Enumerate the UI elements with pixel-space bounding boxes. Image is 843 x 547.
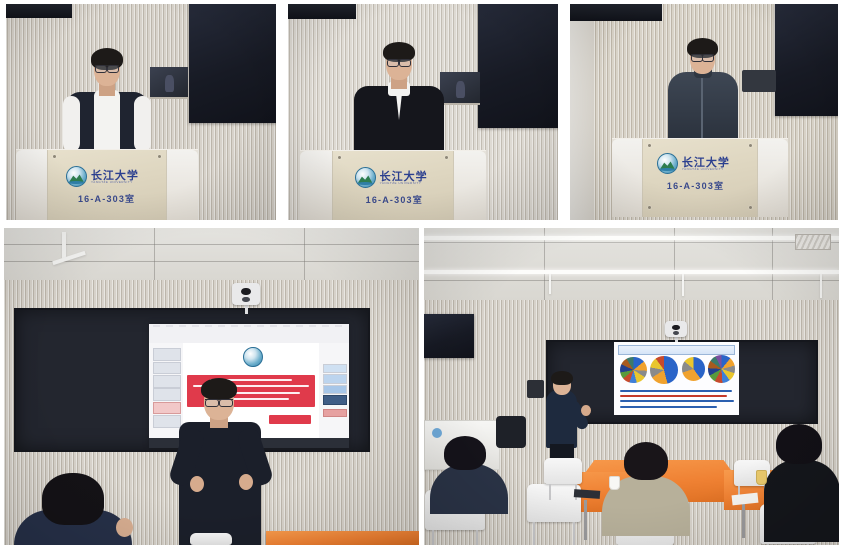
attendee-jacket <box>764 460 839 542</box>
ppt-format-swatch <box>323 374 347 384</box>
podium-screw <box>53 155 56 158</box>
speaker-arm-right <box>134 96 151 152</box>
chair-back <box>190 533 232 545</box>
attendee-hair <box>624 442 668 480</box>
banner-text-line <box>231 398 290 400</box>
crest-water <box>68 181 84 184</box>
monitor-reflection <box>456 81 465 98</box>
ceiling-hanger <box>820 274 822 298</box>
ppt-slide-thumbnail <box>153 415 181 428</box>
ppt-slide-thumbnail <box>153 402 181 415</box>
podium-screw <box>158 155 161 158</box>
ppt-format-swatch <box>323 409 347 417</box>
room-number-label: 16-A-303室 <box>78 192 135 205</box>
camera-lens-icon <box>672 325 679 330</box>
ceiling-grid-line <box>154 228 155 280</box>
projector-bracket <box>62 232 66 258</box>
camera-lens-icon <box>241 288 251 295</box>
university-name-en: YANGTZE UNIVERSITY <box>682 167 724 171</box>
ppt-format-swatch <box>323 364 347 374</box>
ceiling-light-strip <box>424 236 839 240</box>
pie-chart-4 <box>708 355 736 383</box>
camera-sensor-icon <box>242 297 250 303</box>
ceiling-grid-line <box>4 244 419 245</box>
attendee-jacket <box>430 464 508 514</box>
podium-wing-right <box>454 151 486 220</box>
ceiling-hanger <box>549 274 551 294</box>
slide-title-bar <box>618 345 736 355</box>
ppt-ribbon <box>149 324 349 344</box>
table-leg <box>584 500 587 540</box>
slide-footer-block <box>269 415 311 424</box>
monitor-top-left <box>288 4 356 19</box>
paper-cup <box>609 476 620 490</box>
monitor-top-left <box>570 4 662 21</box>
pie-chart-1 <box>620 357 646 383</box>
podium-wing-left <box>300 151 332 220</box>
podium-wing-left <box>16 150 47 220</box>
attendee-hand <box>116 518 133 537</box>
paper-cup <box>756 470 767 485</box>
glasses-icon <box>205 399 233 406</box>
lecture-podium: 长江大学 YANGTZE UNIVERSITY 16-A-303室 <box>300 150 486 220</box>
podium-wing-right <box>167 150 198 220</box>
attendee-hair <box>42 473 104 525</box>
lecture-podium: 长江大学 YANGTZE UNIVERSITY 16-A-303室 <box>16 149 198 220</box>
university-name-en: YANGTZE UNIVERSITY <box>91 180 133 184</box>
pie-chart-3 <box>682 357 706 381</box>
crest-water <box>659 168 675 171</box>
university-crest-icon <box>66 166 87 187</box>
university-name-en: YANGTZE UNIVERSITY <box>380 181 422 185</box>
monitor-reflection <box>165 75 173 92</box>
ppt-ribbon-tabs <box>153 325 345 327</box>
wall-column <box>570 4 594 220</box>
podium-wing-left <box>612 139 642 217</box>
ceiling-air-vent <box>795 234 831 250</box>
photo-bottom-right <box>424 228 839 545</box>
speaker-shirt <box>94 90 120 154</box>
ppt-format-swatch <box>323 395 347 405</box>
presenter-hand-left <box>190 476 204 492</box>
photo-top-left: 长江大学 YANGTZE UNIVERSITY 16-A-303室 <box>6 4 276 220</box>
podium-wing-right <box>758 139 788 217</box>
glasses-icon <box>387 59 411 66</box>
ppt-slide-thumbnail <box>153 362 181 375</box>
speaker-arm-left <box>63 96 80 152</box>
podium-screw <box>445 156 448 159</box>
slide-university-crest-icon <box>243 347 263 367</box>
office-chair-dark <box>496 416 526 448</box>
presenter-hair <box>201 378 237 400</box>
wall-display <box>775 4 838 116</box>
podium-screw <box>338 156 341 159</box>
presenter-hand-right <box>239 474 253 490</box>
podium-screw <box>749 206 752 209</box>
photo-top-right: 长江大学 YANGTZE UNIVERSITY 16-A-303室 <box>570 4 838 220</box>
ceiling-grid-line <box>304 228 305 280</box>
orange-table-edge <box>266 531 419 545</box>
lecture-podium: 长江大学 YANGTZE UNIVERSITY 16-A-303室 <box>612 138 788 217</box>
suspended-ceiling <box>4 228 419 280</box>
slide-body-line <box>620 395 726 397</box>
podium-front-panel: 长江大学 YANGTZE UNIVERSITY 16-A-303室 <box>332 151 455 220</box>
jacket-zip-line <box>701 76 703 142</box>
paper-sheet <box>574 489 600 499</box>
ceiling-light-strip <box>424 270 839 274</box>
wall-speaker-box <box>527 380 544 398</box>
ceiling-hanger <box>682 274 684 296</box>
wall-speaker-box <box>742 70 776 92</box>
podium-screw <box>749 144 752 147</box>
speaker-puffer-jacket <box>668 72 738 144</box>
attendee-hair <box>444 436 486 470</box>
university-crest-icon <box>657 153 678 174</box>
chair <box>544 458 582 484</box>
ceiling-grid-line <box>424 280 839 281</box>
wall-display <box>424 314 474 358</box>
presenter-hand <box>581 405 591 416</box>
crest-water <box>357 182 373 185</box>
photo-top-middle: 长江大学 YANGTZE UNIVERSITY 16-A-303室 <box>288 4 558 220</box>
podium-screw <box>648 144 651 147</box>
monitor-top-left <box>6 4 72 18</box>
tracking-camera <box>665 321 687 337</box>
slide-body-line <box>620 400 734 402</box>
ppt-format-swatch <box>323 385 347 395</box>
wall-display <box>189 4 276 123</box>
ppt-format-pane <box>318 343 349 439</box>
small-monitor <box>440 72 480 105</box>
tracking-camera <box>232 283 260 305</box>
presenter-hair <box>551 371 573 385</box>
podium-screw <box>648 206 651 209</box>
university-crest-icon <box>355 167 376 188</box>
pie-chart-2 <box>650 356 678 384</box>
photo-collage: 长江大学 YANGTZE UNIVERSITY 16-A-303室 <box>0 0 843 547</box>
room-number-label: 16-A-303室 <box>366 193 423 206</box>
partition-sticker <box>432 428 442 438</box>
wall-display <box>478 4 558 128</box>
ppt-slide-thumbnail <box>153 375 181 388</box>
ceiling-grid-line <box>4 261 419 262</box>
podium-front-panel: 长江大学 YANGTZE UNIVERSITY 16-A-303室 <box>47 150 167 220</box>
small-monitor <box>150 67 188 99</box>
slide-body-line <box>620 406 716 408</box>
ppt-thumbnail-pane <box>149 343 184 439</box>
camera-sensor-icon <box>673 331 679 335</box>
glasses-icon <box>691 54 714 61</box>
glasses-icon <box>95 65 119 72</box>
ppt-slide-thumbnail <box>153 388 181 401</box>
photo-bottom-left <box>4 228 419 545</box>
attendee-hair <box>776 424 822 464</box>
slide-body-line <box>620 390 731 392</box>
ppt-slide-thumbnail <box>153 348 181 361</box>
projection-slide-charts <box>614 342 739 415</box>
room-number-label: 16-A-303室 <box>667 179 724 192</box>
podium-front-panel: 长江大学 YANGTZE UNIVERSITY 16-A-303室 <box>642 139 758 217</box>
ceiling-grid-line <box>424 242 839 243</box>
